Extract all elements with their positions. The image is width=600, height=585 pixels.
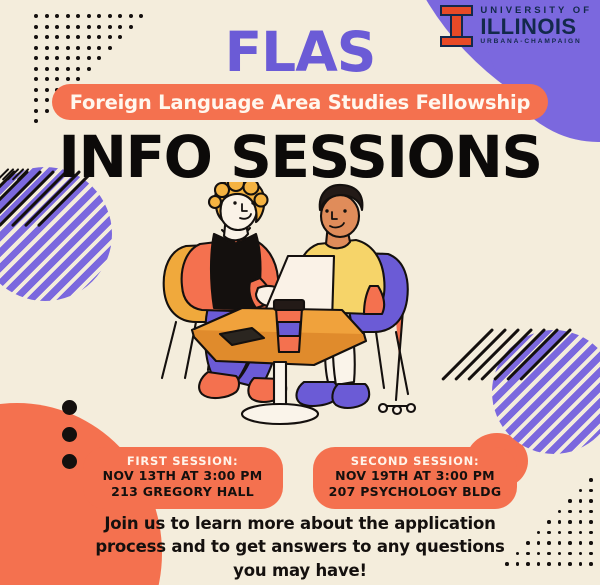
dot: [34, 109, 38, 113]
logo-line-illinois: ILLINOIS: [480, 16, 592, 38]
session-location: 207 PSYCHOLOGY BLDG: [329, 484, 502, 500]
session-pill-second: SECOND SESSION: NOV 19TH AT 3:00 PM 207 …: [313, 447, 518, 509]
session-pill-first: FIRST SESSION: NOV 13TH AT 3:00 PM 213 G…: [83, 447, 283, 509]
footer-line-1: Join us to learn more about the applicat…: [0, 512, 600, 535]
dot: [87, 14, 91, 18]
dot: [66, 14, 70, 18]
session-location: 213 GREGORY HALL: [99, 484, 267, 500]
session-heading: SECOND SESSION:: [329, 454, 502, 468]
session-pill-group: FIRST SESSION: NOV 13TH AT 3:00 PM 213 G…: [0, 447, 600, 509]
dot: [45, 88, 49, 92]
dot: [129, 14, 133, 18]
illustration-two-people-at-table: [152, 182, 452, 430]
dot: [97, 14, 101, 18]
session-datetime: NOV 19TH AT 3:00 PM: [329, 468, 502, 484]
dot: [139, 14, 143, 18]
subtitle-pill: Foreign Language Area Studies Fellowship: [52, 84, 548, 120]
dot: [45, 98, 49, 102]
dot: [108, 14, 112, 18]
footer-line-2: process and to get answers to any questi…: [0, 535, 600, 558]
dot: [34, 88, 38, 92]
dot: [76, 14, 80, 18]
illinois-logo: UNIVERSITY OF ILLINOIS URBANA-CHAMPAIGN: [440, 5, 592, 47]
dot: [62, 427, 77, 442]
dot: [34, 14, 38, 18]
page-title: INFO SESSIONS: [0, 123, 600, 191]
session-heading: FIRST SESSION:: [99, 454, 267, 468]
poster-canvas: UNIVERSITY OF ILLINOIS URBANA-CHAMPAIGN …: [0, 0, 600, 585]
dot: [62, 400, 77, 415]
logo-line-urbana-champaign: URBANA-CHAMPAIGN: [480, 39, 592, 46]
dot: [45, 14, 49, 18]
session-datetime: NOV 13TH AT 3:00 PM: [99, 468, 267, 484]
dot: [118, 14, 122, 18]
illinois-wordmark: UNIVERSITY OF ILLINOIS URBANA-CHAMPAIGN: [480, 6, 592, 46]
purple-striped-circle-right: [492, 330, 600, 454]
block-i-icon: [440, 5, 473, 47]
footer-line-3: you may have!: [0, 559, 600, 582]
footer-description: Join us to learn more about the applicat…: [0, 512, 600, 582]
subtitle-text: Foreign Language Area Studies Fellowship: [70, 91, 531, 114]
dot: [55, 14, 59, 18]
dot: [45, 109, 49, 113]
dot: [34, 98, 38, 102]
